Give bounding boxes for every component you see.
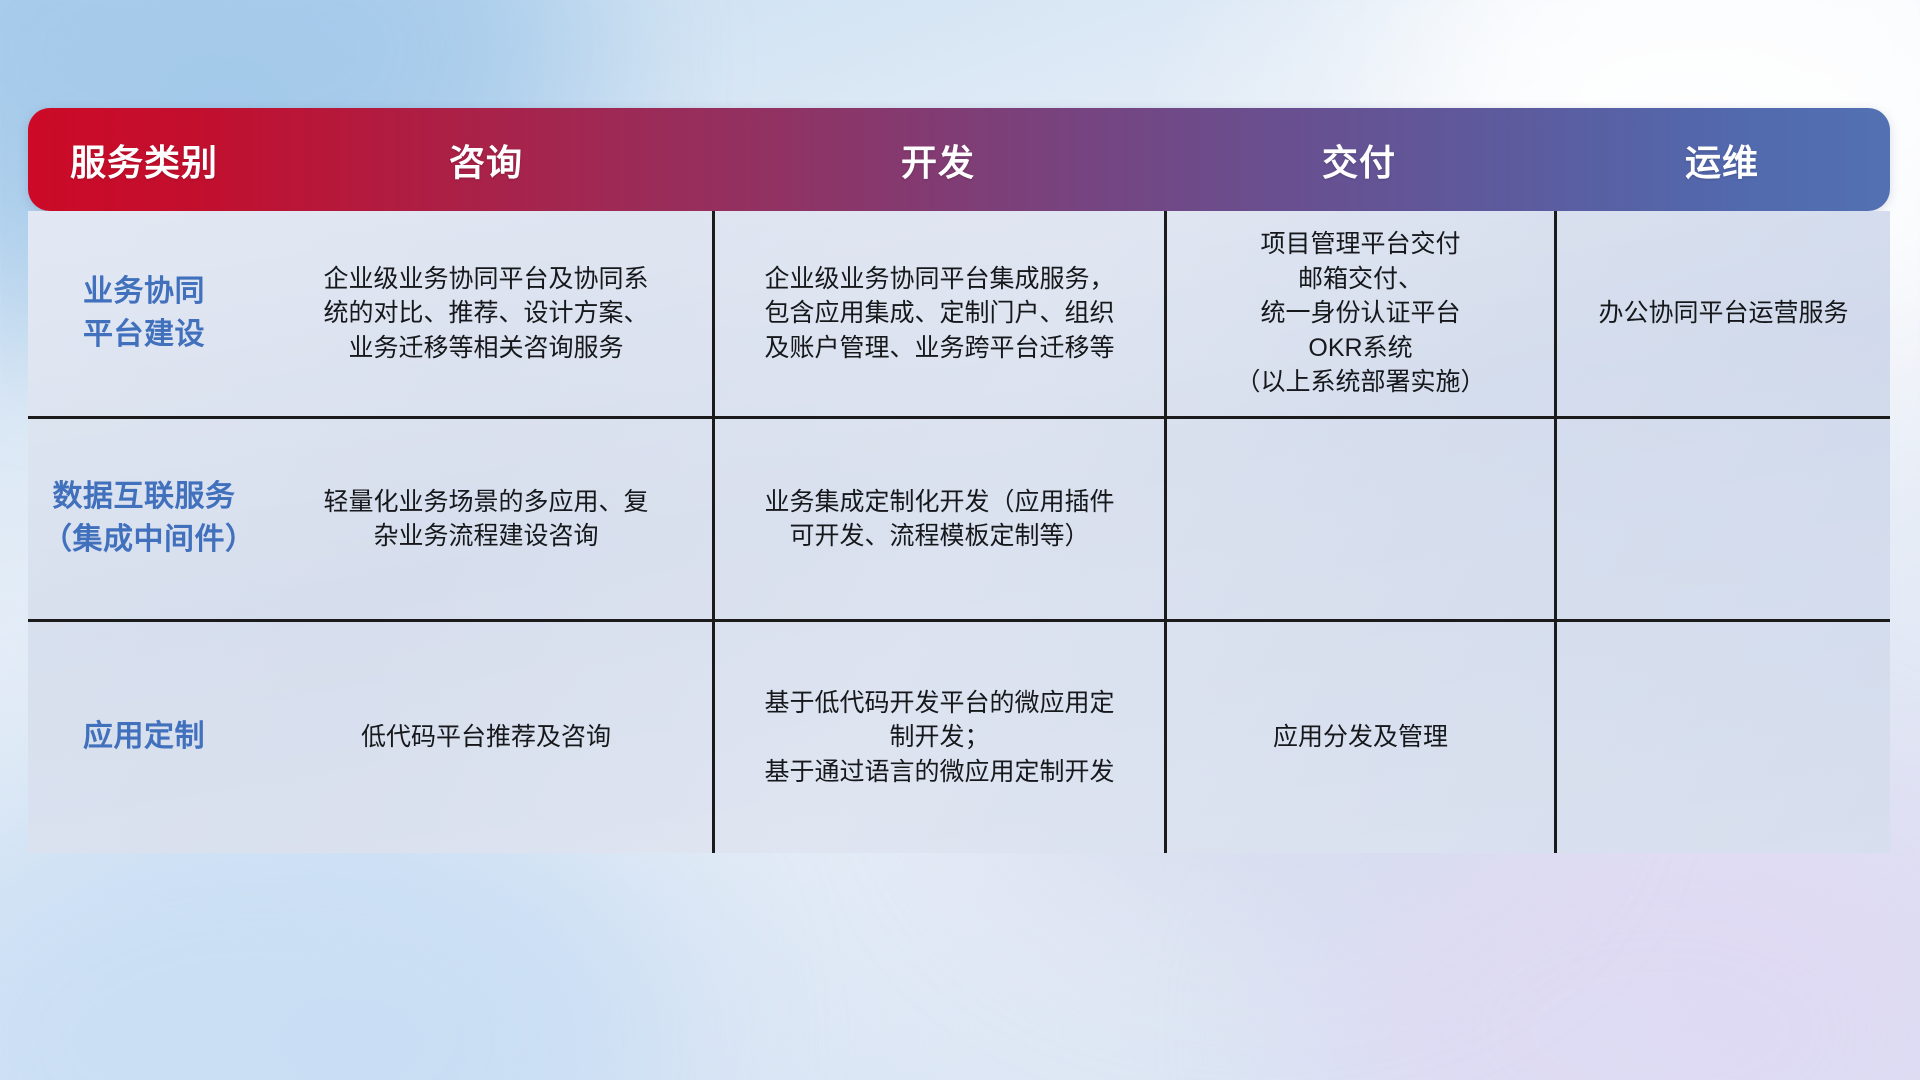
table-row: 数据互联服务 （集成中间件） 轻量化业务场景的多应用、复 杂业务流程建设咨询 业… xyxy=(28,416,1890,619)
service-matrix-table: 服务类别 咨询 开发 交付 运维 业务协同 平台建设 企业级业务协同平台及协同系… xyxy=(28,108,1890,853)
column-header-operations: 运维 xyxy=(1554,108,1890,211)
column-header-consulting: 咨询 xyxy=(260,108,712,211)
cell-delivery: 应用分发及管理 xyxy=(1164,622,1554,853)
cell-category: 应用定制 xyxy=(28,622,260,853)
cell-development: 企业级业务协同平台集成服务， 包含应用集成、定制门户、组织 及账户管理、业务跨平… xyxy=(712,211,1164,416)
table-header-row: 服务类别 咨询 开发 交付 运维 xyxy=(28,108,1890,211)
cell-development: 基于低代码开发平台的微应用定 制开发； 基于通过语言的微应用定制开发 xyxy=(712,622,1164,853)
cell-operations: 办公协同平台运营服务 xyxy=(1554,211,1890,416)
cell-development: 业务集成定制化开发（应用插件 可开发、流程模板定制等） xyxy=(712,419,1164,619)
cell-consulting: 轻量化业务场景的多应用、复 杂业务流程建设咨询 xyxy=(260,419,712,619)
table-row: 应用定制 低代码平台推荐及咨询 基于低代码开发平台的微应用定 制开发； 基于通过… xyxy=(28,619,1890,853)
cell-operations xyxy=(1554,419,1890,619)
cell-operations xyxy=(1554,622,1890,853)
column-header-development: 开发 xyxy=(712,108,1164,211)
table-body: 业务协同 平台建设 企业级业务协同平台及协同系 统的对比、推荐、设计方案、 业务… xyxy=(28,211,1890,853)
cell-delivery xyxy=(1164,419,1554,619)
column-header-delivery: 交付 xyxy=(1164,108,1554,211)
cell-category: 数据互联服务 （集成中间件） xyxy=(28,419,260,619)
cell-delivery: 项目管理平台交付 邮箱交付、 统一身份认证平台 OKR系统 （以上系统部署实施） xyxy=(1164,211,1554,416)
cell-category: 业务协同 平台建设 xyxy=(28,211,260,416)
table-row: 业务协同 平台建设 企业级业务协同平台及协同系 统的对比、推荐、设计方案、 业务… xyxy=(28,211,1890,416)
cell-consulting: 低代码平台推荐及咨询 xyxy=(260,622,712,853)
cell-consulting: 企业级业务协同平台及协同系 统的对比、推荐、设计方案、 业务迁移等相关咨询服务 xyxy=(260,211,712,416)
column-header-category: 服务类别 xyxy=(28,108,260,211)
